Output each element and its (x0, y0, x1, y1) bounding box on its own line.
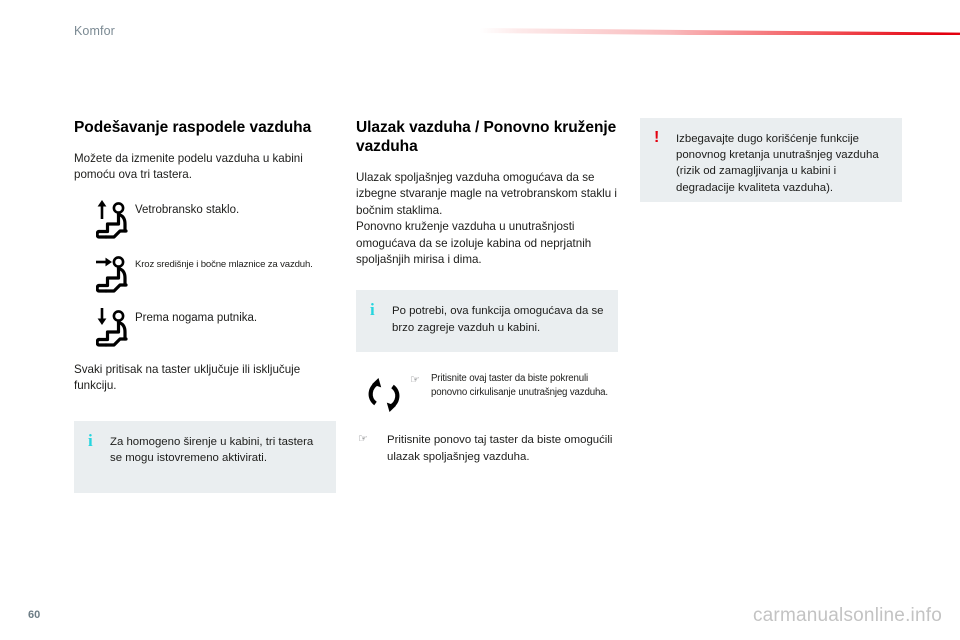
pointing-hand-icon: ☞ (358, 433, 368, 446)
warning-callout-text: Izbegavajte dugo korišćenje funkcije pon… (676, 131, 888, 196)
seat-airflow-down-icon (96, 308, 134, 352)
list-item-label: Vetrobransko staklo. (135, 203, 239, 218)
info-callout-left: i Za homogeno širenje u kabini, tri tast… (74, 421, 336, 493)
list-item: Vetrobransko staklo. (74, 200, 336, 246)
header-red-rule (480, 28, 960, 35)
info-callout-text: Po potrebi, ova funkcija omogućava da se… (392, 303, 604, 335)
list-item-label: Kroz središnje i bočne mlaznice za vazdu… (135, 257, 313, 272)
press-instruction-fresh-air: ☞ Pritisnite ponovo taj taster da biste … (356, 432, 618, 466)
header-red-rule-bar (480, 28, 960, 35)
list-item: Kroz središnje i bočne mlaznice za vazdu… (74, 254, 336, 300)
info-icon: i (88, 432, 93, 450)
list-item-label: Prema nogama putnika. (135, 311, 257, 326)
column-left: Podešavanje raspodele vazduha Možete da … (74, 118, 336, 493)
column-right: ! Izbegavajte dugo korišćenje funkcije p… (640, 118, 902, 202)
pointing-hand-icon: ☞ (410, 374, 420, 387)
airflow-distribution-list: Vetrobransko staklo. Kroz središnje i bo… (74, 200, 336, 354)
warning-callout: ! Izbegavajte dugo korišćenje funkcije p… (640, 118, 902, 202)
chapter-title: Komfor (74, 24, 115, 38)
info-callout-middle: i Po potrebi, ova funkcija omogućava da … (356, 290, 618, 352)
info-icon: i (370, 301, 375, 319)
column-middle: Ulazak vazduha / Ponovno kruženje vazduh… (356, 118, 618, 466)
middle-paragraph-1: Ulazak spoljašnjeg vazduha omogućava da … (356, 170, 618, 219)
left-after-list-text: Svaki pritisak na taster uključuje ili i… (74, 362, 336, 395)
air-recirculation-icon (366, 376, 402, 414)
page-header: Komfor (0, 0, 960, 52)
list-item: Prema nogama putnika. (74, 308, 336, 354)
page-number: 60 (28, 609, 40, 621)
press-instruction-recirculation: ☞ Pritisnite ovaj taster da biste pokren… (356, 372, 618, 416)
site-watermark: carmanualsonline.info (753, 605, 942, 627)
left-intro-text: Možete da izmenite podelu vazduha u kabi… (74, 151, 336, 184)
page-title: Podešavanje raspodele vazduha (74, 118, 336, 137)
seat-airflow-right-icon (96, 254, 134, 298)
section-title-air-intake: Ulazak vazduha / Ponovno kruženje vazduh… (356, 118, 618, 156)
press-instruction-text: Pritisnite ponovo taj taster da biste om… (356, 432, 618, 464)
seat-airflow-up-icon (96, 200, 134, 244)
warning-icon: ! (654, 129, 659, 147)
middle-paragraph-2: Ponovno kruženje vazduha u unutrašnjosti… (356, 219, 618, 268)
info-callout-text: Za homogeno širenje u kabini, tri taster… (110, 434, 322, 466)
